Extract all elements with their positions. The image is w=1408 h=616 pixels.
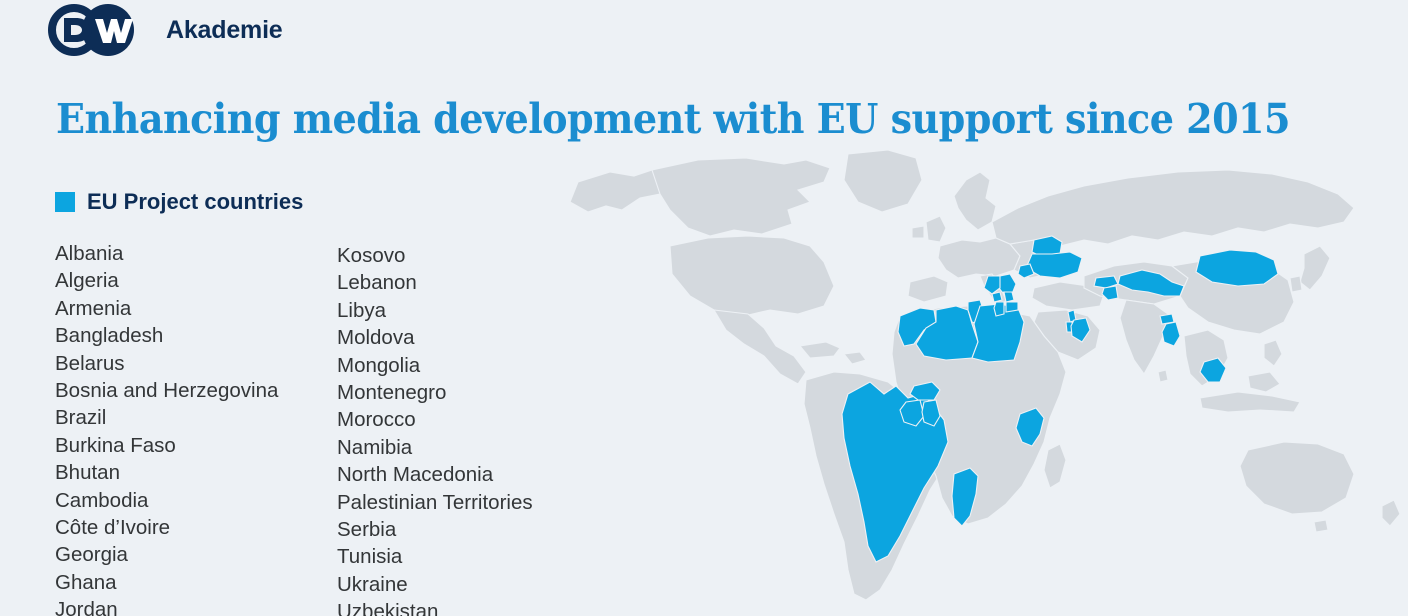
country-item: Serbia — [337, 516, 637, 543]
map-highlight-north-macedonia — [1006, 302, 1018, 312]
map-region-russia — [992, 170, 1354, 246]
country-item: Burkina Faso — [55, 432, 337, 459]
country-column-1: AlbaniaAlgeriaArmeniaBangladeshBelarusBo… — [55, 240, 337, 616]
map-highlight-montenegro — [992, 292, 1002, 302]
map-region-mexico — [714, 310, 806, 384]
map-region-cuba-east — [844, 352, 866, 364]
map-region-indonesia — [1200, 392, 1300, 412]
page-title: Enhancing media development with EU supp… — [56, 96, 1290, 143]
map-highlight-lebanon — [1068, 310, 1076, 322]
map-region-southeast-asia — [1184, 330, 1228, 386]
map-highlight-algeria — [916, 306, 978, 360]
country-item: North Macedonia — [337, 461, 637, 488]
map-region-caribbean — [800, 342, 840, 358]
map-region-british-isles — [926, 216, 946, 242]
country-item: Armenia — [55, 295, 337, 322]
legend-label: EU Project countries — [87, 191, 303, 213]
country-item: Algeria — [55, 267, 337, 294]
map-highlight-mongolia — [1196, 250, 1278, 286]
map-highlight-georgia — [1094, 276, 1118, 288]
map-region-africa — [892, 306, 1066, 524]
map-region-philippines — [1264, 340, 1282, 366]
country-item: Albania — [55, 240, 337, 267]
country-item: Jordan — [55, 596, 337, 616]
country-item: Lebanon — [337, 269, 637, 296]
map-highlight-palestinian-territories — [1066, 322, 1074, 332]
map-highlight-belarus — [1032, 236, 1062, 258]
country-item: Uzbekistan — [337, 598, 637, 616]
map-region-china — [1172, 258, 1294, 334]
map-highlight-armenia — [1102, 286, 1118, 300]
map-region-greenland — [844, 150, 922, 212]
country-item: Ghana — [55, 569, 337, 596]
legend: EU Project countries — [55, 191, 303, 213]
map-region-scandinavia — [954, 172, 996, 230]
map-highlight-jordan — [1071, 318, 1090, 342]
country-column-2: KosovoLebanonLibyaMoldovaMongoliaMontene… — [337, 240, 637, 616]
brand-bar: Akademie — [40, 2, 283, 58]
map-highlight-bhutan — [1160, 314, 1174, 324]
brand-name: Akademie — [166, 18, 283, 43]
country-item: Tunisia — [337, 543, 637, 570]
map-region-central-europe — [1010, 240, 1056, 278]
map-highlight-cambodia — [1200, 358, 1226, 382]
country-item: Moldova — [337, 324, 637, 351]
map-highlight-libya — [972, 304, 1024, 362]
map-highlight-serbia — [996, 274, 1016, 294]
map-highlight-albania — [994, 302, 1004, 316]
map-highlight-ukraine — [1026, 252, 1082, 278]
map-region-australia — [1240, 442, 1354, 514]
map-highlight-bosnia-and-herzegovina — [984, 276, 1000, 294]
country-item: Bosnia and Herzegovina — [55, 377, 337, 404]
map-highlight-moldova — [1018, 264, 1034, 278]
map-region-western-europe — [938, 238, 1020, 278]
map-highlight-tunisia — [968, 300, 984, 324]
country-item: Ukraine — [337, 571, 637, 598]
map-region-central-asia — [1084, 262, 1188, 304]
country-item: Georgia — [55, 541, 337, 568]
map-region-arabia — [1034, 310, 1100, 360]
country-item: Cambodia — [55, 487, 337, 514]
country-item: Palestinian Territories — [337, 489, 637, 516]
map-highlight-ghana — [922, 400, 940, 426]
country-item: Bhutan — [55, 459, 337, 486]
country-item: Montenegro — [337, 379, 637, 406]
country-item: Namibia — [337, 434, 637, 461]
map-region-italy — [980, 274, 1006, 308]
map-region-usa — [670, 236, 834, 316]
map-region-alaska — [570, 170, 666, 212]
map-highlight-burkina-faso — [910, 382, 940, 400]
map-region-new-zealand — [1382, 500, 1400, 526]
map-region-japan — [1300, 246, 1330, 290]
country-item: Côte d’Ivoire — [55, 514, 337, 541]
map-region-iberia — [908, 276, 948, 302]
map-region-turkey — [1032, 282, 1104, 310]
map-region-south-america — [804, 372, 952, 600]
world-map — [548, 150, 1408, 616]
map-highlight-namibia — [952, 468, 978, 526]
country-item: Mongolia — [337, 352, 637, 379]
country-item: Brazil — [55, 404, 337, 431]
map-region-sri-lanka — [1158, 370, 1168, 382]
map-region-korea — [1290, 276, 1302, 292]
country-item: Bangladesh — [55, 322, 337, 349]
map-region-madagascar — [1044, 444, 1066, 488]
map-highlight-group — [842, 236, 1278, 562]
legend-swatch-icon — [55, 192, 75, 212]
country-list: AlbaniaAlgeriaArmeniaBangladeshBelarusBo… — [55, 240, 637, 616]
map-highlight-uzbekistan — [1118, 270, 1184, 296]
country-item: Libya — [337, 297, 637, 324]
map-region-canada — [652, 158, 830, 236]
map-highlight-kenya — [1016, 408, 1044, 446]
map-highlight-brazil — [842, 382, 948, 562]
country-item: Kosovo — [337, 242, 637, 269]
map-region-india — [1120, 300, 1168, 374]
map-highlight-bangladesh — [1162, 322, 1180, 346]
map-region-tasmania — [1314, 520, 1328, 532]
country-item: Belarus — [55, 350, 337, 377]
map-land-group — [570, 150, 1400, 600]
country-item: Morocco — [337, 406, 637, 433]
map-region-ireland — [912, 226, 924, 238]
map-highlight-cote-divoire — [900, 400, 924, 426]
map-region-borneo — [1248, 372, 1280, 392]
dw-logo-icon — [40, 2, 152, 58]
map-highlight-morocco — [898, 308, 936, 346]
map-highlight-kosovo — [1004, 292, 1014, 302]
